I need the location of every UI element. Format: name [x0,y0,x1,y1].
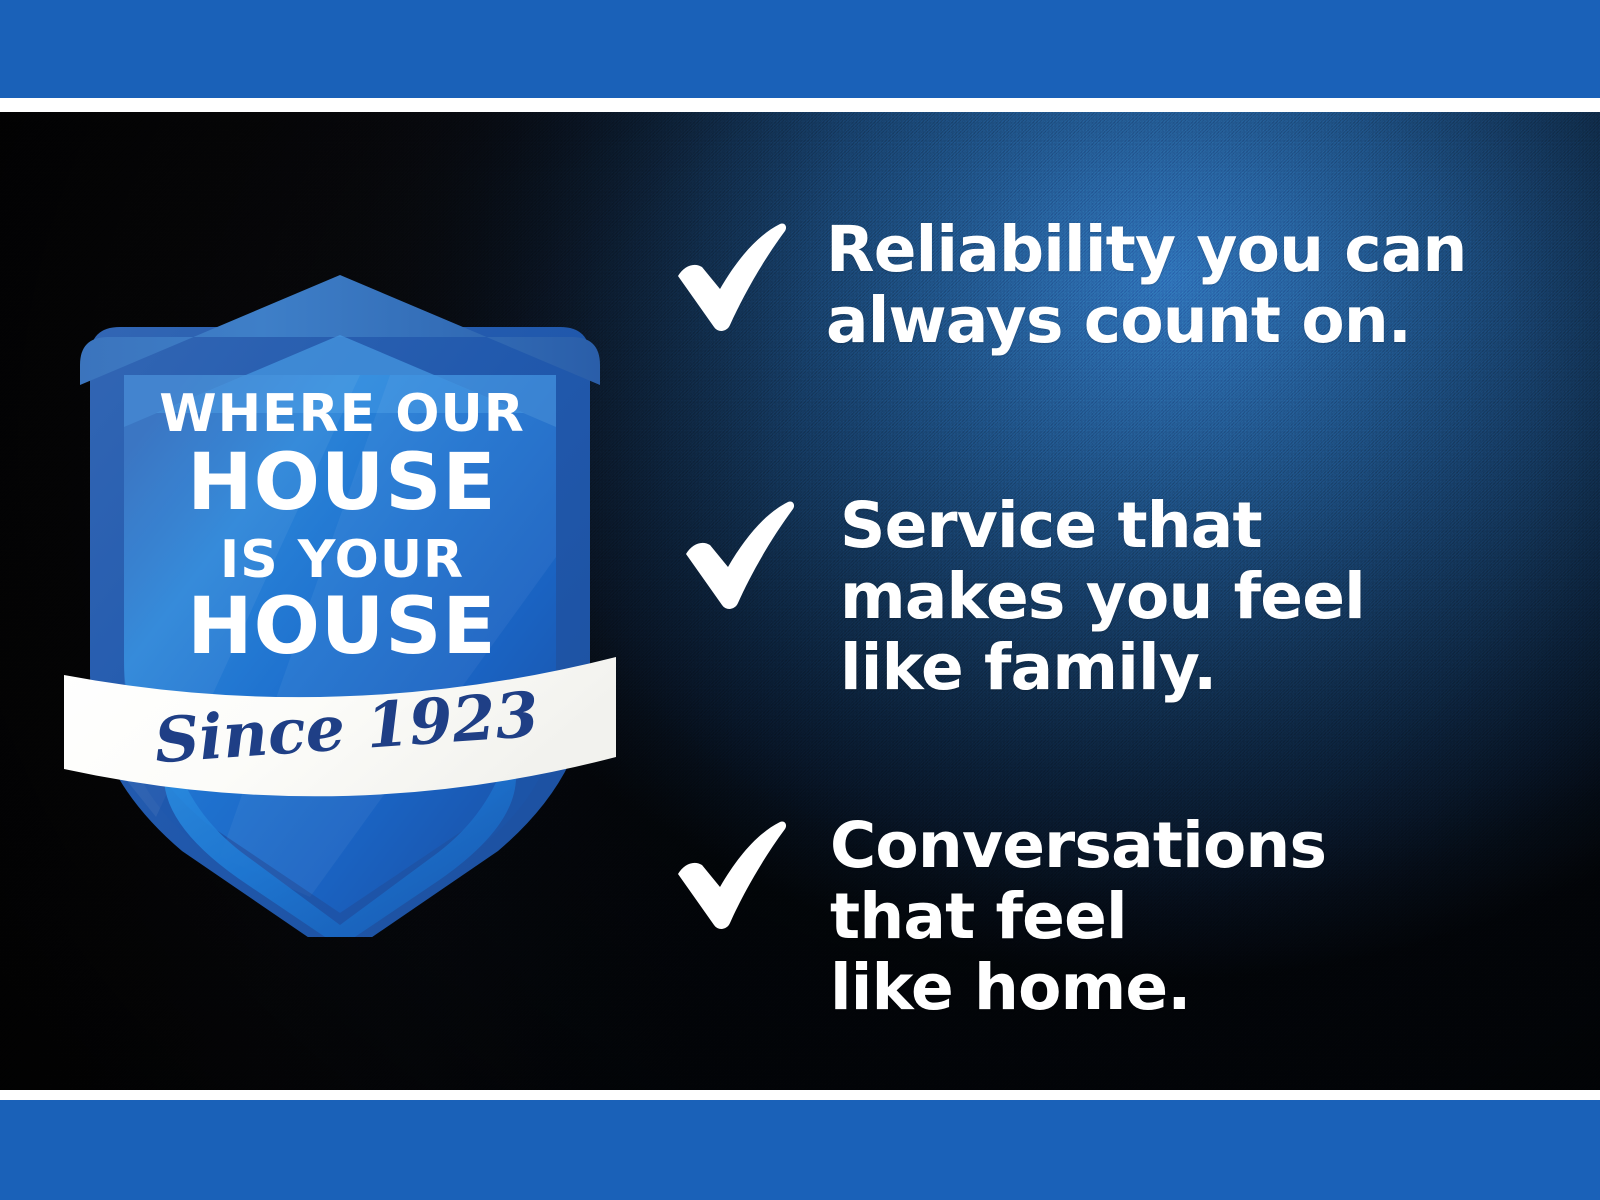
shield-emblem: WHERE OUR HOUSE IS YOUR HOUSE Since 1923 [60,257,620,937]
emblem-line-2: HOUSE [187,438,496,528]
emblem-line-1: WHERE OUR [159,384,525,444]
brand-bar-bottom [0,1100,1600,1200]
checkmark-icon [672,818,792,934]
checkmark-icon [680,498,800,614]
brand-bar-top [0,0,1600,98]
benefit-text-3: Conversations that feel like home. [830,810,1326,1024]
promo-poster: WHERE OUR HOUSE IS YOUR HOUSE Since 1923 [0,0,1600,1200]
benefit-text-2: Service that makes you feel like family. [840,490,1365,704]
benefit-text-1: Reliability you can always count on. [826,214,1467,356]
emblem-line-3: IS YOUR [220,530,464,590]
benefit-item-2: Service that makes you feel like family. [680,476,1365,704]
benefit-item-1: Reliability you can always count on. [672,208,1467,356]
benefits-list: Reliability you can always count on. Ser… [672,208,1572,1038]
poster-stage: WHERE OUR HOUSE IS YOUR HOUSE Since 1923 [0,112,1600,1090]
emblem-line-4: HOUSE [187,582,496,672]
checkmark-icon [672,220,792,336]
benefit-item-3: Conversations that feel like home. [672,796,1326,1024]
